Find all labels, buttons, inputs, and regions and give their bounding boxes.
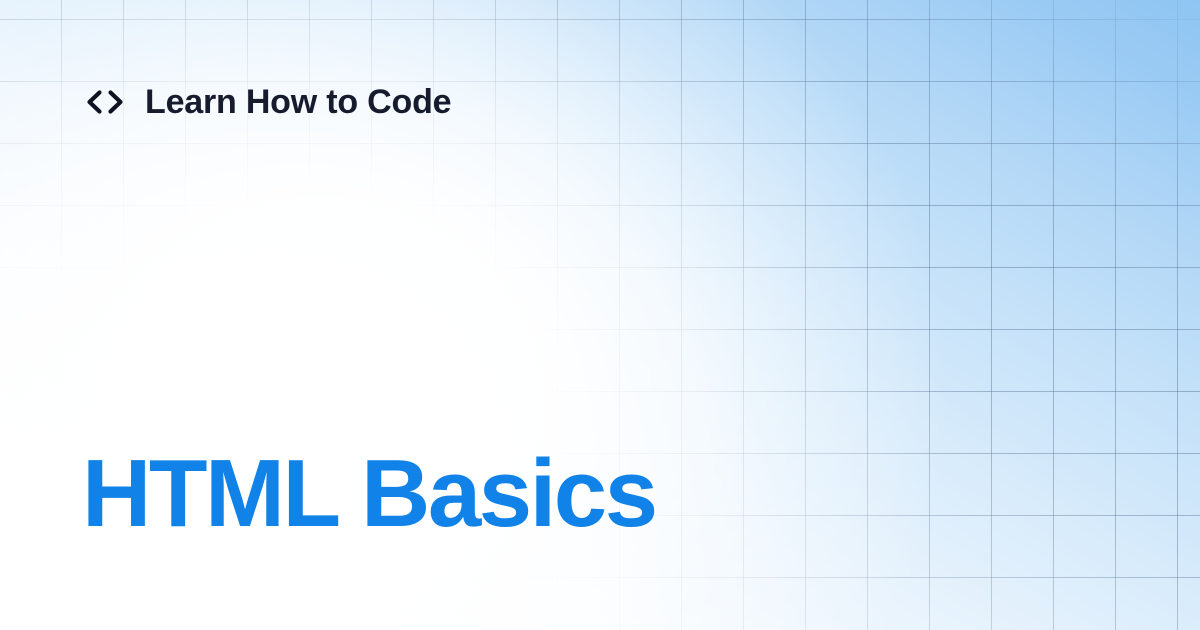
brand-lockup: Learn How to Code: [84, 85, 451, 119]
page-title: HTML Basics: [82, 446, 656, 542]
slide-canvas: Learn How to Code HTML Basics: [0, 0, 1200, 630]
code-chevrons-icon: [84, 87, 126, 117]
brand-label: Learn How to Code: [145, 85, 451, 119]
